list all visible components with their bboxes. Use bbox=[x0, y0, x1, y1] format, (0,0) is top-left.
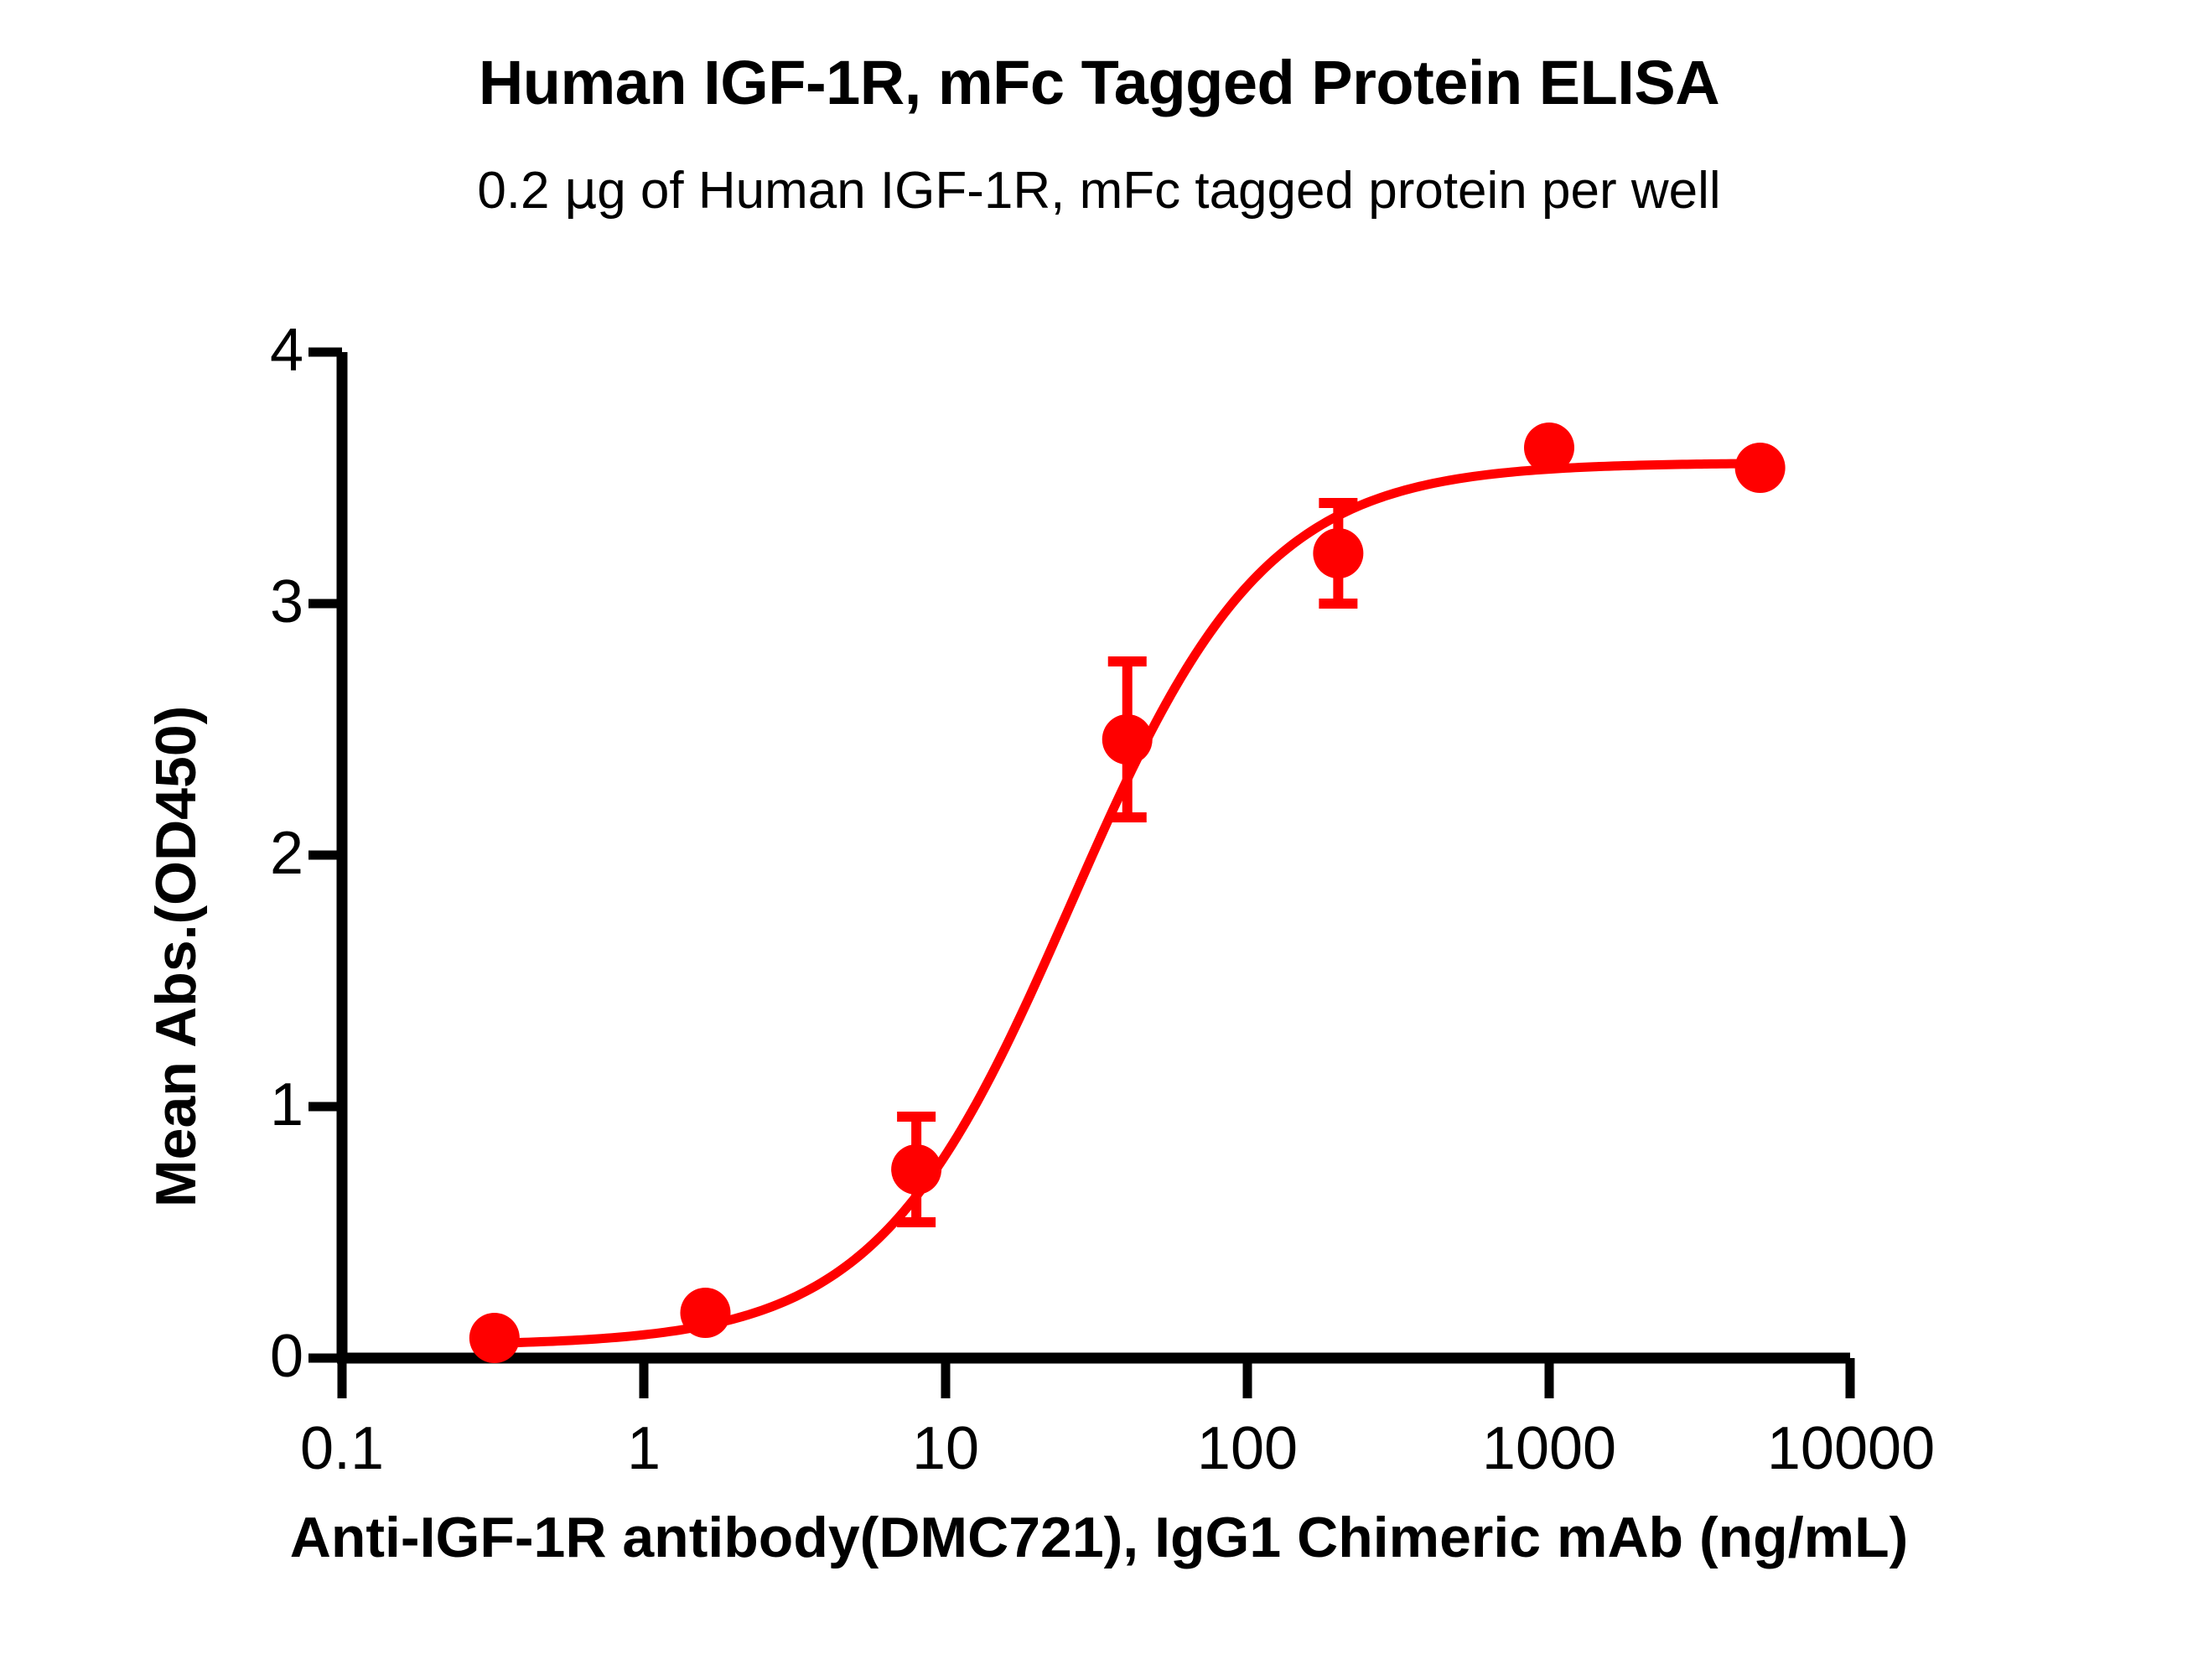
data-point-marker bbox=[1524, 423, 1574, 473]
plot-canvas bbox=[0, 0, 2198, 1680]
data-point-marker bbox=[1313, 528, 1363, 578]
elisa-chart-figure: Human IGF-1R, mFc Tagged Protein ELISA 0… bbox=[0, 0, 2198, 1680]
fit-curve bbox=[495, 464, 1760, 1343]
data-point-marker bbox=[1102, 714, 1153, 765]
data-point-marker bbox=[469, 1313, 520, 1363]
data-point-markers bbox=[469, 423, 1786, 1363]
data-point-marker bbox=[891, 1144, 941, 1195]
x-axis-ticks bbox=[342, 1358, 1850, 1398]
data-point-marker bbox=[1735, 443, 1786, 493]
data-point-marker bbox=[680, 1288, 730, 1338]
